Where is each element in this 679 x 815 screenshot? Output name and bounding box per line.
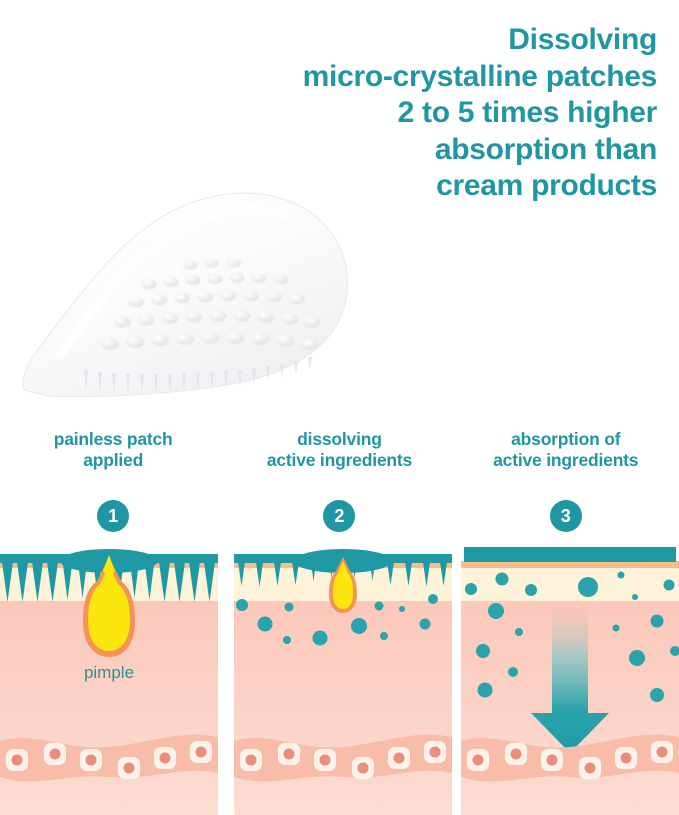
process-panels: painless patch applied 1 [0, 425, 679, 815]
patch-illustration [18, 168, 358, 408]
panel-2-caption-line-2: active ingredients [226, 450, 452, 471]
panel-3-caption: absorption of active ingredients [453, 429, 679, 470]
panel-2-caption-line-1: dissolving [226, 429, 452, 450]
headline-line-4: absorption than [227, 132, 657, 169]
step-badge-1: 1 [97, 500, 129, 532]
headline-line-3: 2 to 5 times higher [227, 95, 657, 132]
panel-step-1: painless patch applied 1 [0, 425, 226, 815]
panel-step-3: absorption of active ingredients 3 [453, 425, 679, 815]
skin-cross-section-1: pimple [0, 545, 218, 815]
microneedle-patch-image [18, 168, 358, 408]
panel-1-caption-line-2: applied [0, 450, 226, 471]
skin-diagram-2 [234, 545, 452, 815]
headline-line-1: Dissolving [227, 22, 657, 59]
panel-1-caption: painless patch applied [0, 429, 226, 470]
skin-cross-section-2 [234, 545, 452, 815]
panel-step-2: dissolving active ingredients 2 [226, 425, 452, 815]
skin-diagram-3 [461, 545, 679, 815]
pimple-label: pimple [0, 663, 218, 683]
step-badge-3: 3 [550, 500, 582, 532]
step-badge-2: 2 [323, 500, 355, 532]
panel-3-caption-line-2: active ingredients [453, 450, 679, 471]
headline-line-2: micro-crystalline patches [227, 59, 657, 96]
panel-2-caption: dissolving active ingredients [226, 429, 452, 470]
panel-1-caption-line-1: painless patch [0, 429, 226, 450]
panel-3-caption-line-1: absorption of [453, 429, 679, 450]
skin-cross-section-3 [461, 545, 679, 815]
